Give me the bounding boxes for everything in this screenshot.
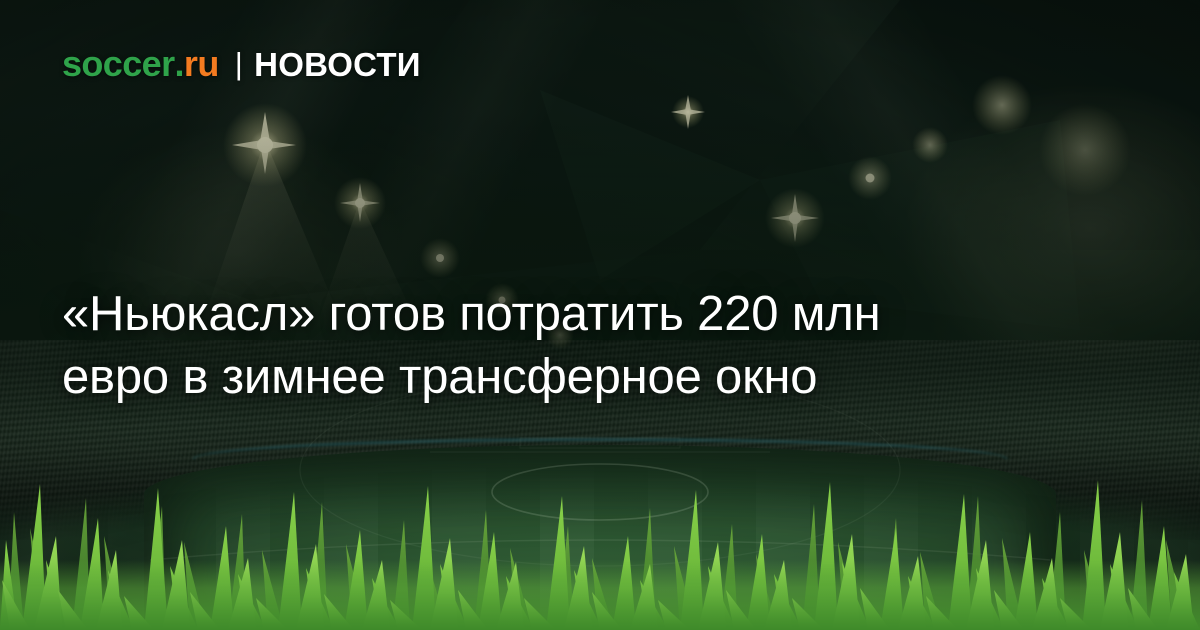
section-label-news: НОВОСТИ (254, 48, 420, 81)
news-share-card: soccer.ru | НОВОСТИ «Ньюкасл» готов потр… (0, 0, 1200, 630)
headline-line-1: «Ньюкасл» готов потратить 220 млн (62, 283, 1142, 346)
brand-name-dot: . (175, 46, 184, 82)
brand-separator: | (235, 48, 242, 79)
headline-line-2: евро в зимнее трансферное окно (62, 346, 1142, 409)
headline: «Ньюкасл» готов потратить 220 млн евро в… (62, 283, 1142, 409)
brand-name-primary: soccer (62, 46, 175, 82)
brand-name-tld: ru (184, 46, 219, 82)
card-content: soccer.ru | НОВОСТИ «Ньюкасл» готов потр… (0, 0, 1200, 630)
brand-logo[interactable]: soccer.ru | НОВОСТИ (62, 46, 421, 82)
